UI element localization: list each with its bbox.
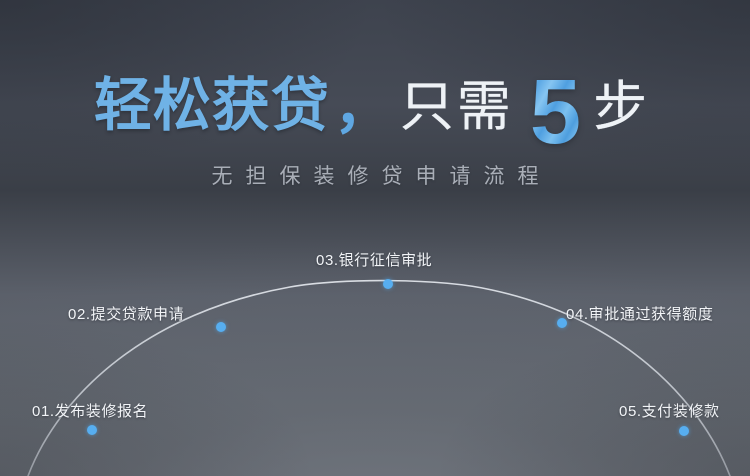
headline: 轻松获贷 ， 只需 5 步 — [0, 60, 750, 152]
promo-banner: 轻松获贷 ， 只需 5 步 无担保装修贷申请流程 01.发布装修报名02.提交贷… — [0, 0, 750, 476]
step-label-04[interactable]: 04.审批通过获得额度 — [566, 303, 713, 324]
step-dot-04[interactable] — [557, 318, 567, 328]
headline-step-count: 5 — [530, 66, 581, 158]
headline-comma: ， — [334, 79, 392, 137]
step-dot-05[interactable] — [679, 426, 689, 436]
step-dot-01[interactable] — [87, 425, 97, 435]
step-dot-03[interactable] — [383, 279, 393, 289]
step-label-01[interactable]: 01.发布装修报名 — [32, 400, 148, 421]
headline-thin-text-1: 只需 — [400, 80, 514, 134]
step-label-05[interactable]: 05.支付装修款 — [619, 400, 720, 421]
step-label-03[interactable]: 03.银行征信审批 — [316, 249, 432, 270]
step-dot-02[interactable] — [216, 322, 226, 332]
headline-bold-text: 轻松获贷 — [94, 77, 330, 135]
step-label-02[interactable]: 02.提交贷款申请 — [68, 303, 184, 324]
headline-thin-text-2: 步 — [593, 80, 650, 134]
subtitle: 无担保装修贷申请流程 — [0, 160, 750, 190]
